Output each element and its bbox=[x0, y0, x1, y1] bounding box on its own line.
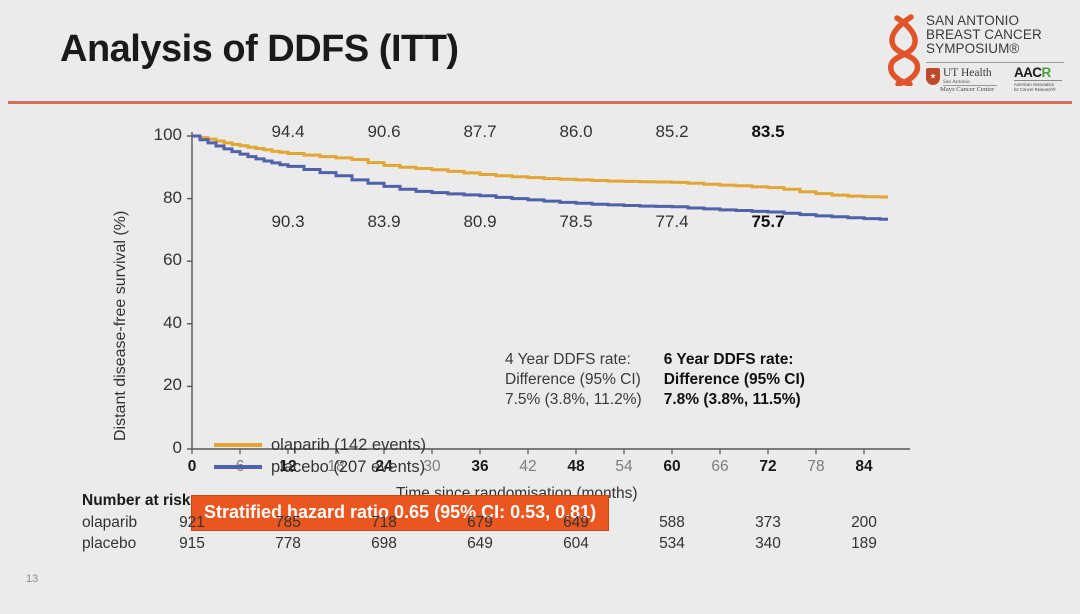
aacr-rule bbox=[1014, 80, 1062, 81]
risk-row-label: placebo bbox=[82, 535, 136, 553]
aacr-logo: AACR American Association for Cancer Res… bbox=[1014, 66, 1062, 92]
number-at-risk-table: Number at risk olaparib92178571867964958… bbox=[0, 492, 1080, 562]
ddfs-rate-annotations: 4 Year DDFS rate:Difference (95% CI)7.5%… bbox=[505, 350, 805, 410]
x-axis-tick-label: 42 bbox=[508, 458, 548, 476]
legend-item: placebo (207 events) bbox=[214, 456, 426, 478]
risk-cell: 915 bbox=[165, 535, 219, 553]
annotation-line: 7.8% (3.8%, 11.5%) bbox=[664, 390, 805, 410]
risk-table-title: Number at risk bbox=[82, 492, 191, 510]
risk-cell: 200 bbox=[837, 514, 891, 532]
x-axis-tick-label: 78 bbox=[796, 458, 836, 476]
annotation-four-year: 4 Year DDFS rate:Difference (95% CI)7.5%… bbox=[505, 350, 642, 410]
series-value-label: 87.7 bbox=[450, 122, 510, 142]
annotation-line: Difference (95% CI) bbox=[664, 370, 805, 390]
legend-color-swatch bbox=[214, 465, 262, 469]
x-axis-tick-label: 48 bbox=[556, 458, 596, 476]
slide-number: 13 bbox=[26, 573, 38, 585]
y-axis-tick-label: 100 bbox=[136, 125, 182, 145]
y-axis-tick-label: 80 bbox=[136, 188, 182, 208]
x-axis-tick-label: 36 bbox=[460, 458, 500, 476]
series-value-label: 85.2 bbox=[642, 122, 702, 142]
ut-health-label: UT Health bbox=[943, 67, 992, 79]
chart-legend: olaparib (142 events)placebo (207 events… bbox=[214, 434, 426, 478]
risk-cell: 373 bbox=[741, 514, 795, 532]
x-axis-tick-label: 72 bbox=[748, 458, 788, 476]
series-value-label: 83.5 bbox=[738, 122, 798, 142]
series-value-label: 83.9 bbox=[354, 212, 414, 232]
series-value-label: 78.5 bbox=[546, 212, 606, 232]
series-value-label: 94.4 bbox=[258, 122, 318, 142]
logo-partners: UT Health San Antonio Mays Cancer Center… bbox=[926, 66, 1066, 96]
aacr-subtitle: American Association for Cancer Research… bbox=[1014, 82, 1062, 92]
y-axis-tick-label: 0 bbox=[136, 438, 182, 458]
annotation-line: Difference (95% CI) bbox=[505, 370, 642, 390]
legend-label: olaparib (142 events) bbox=[271, 436, 426, 455]
risk-cell: 921 bbox=[165, 514, 219, 532]
x-axis-tick-label: 84 bbox=[844, 458, 884, 476]
series-value-label: 75.7 bbox=[738, 212, 798, 232]
sabcs-logo: SAN ANTONIO BREAST CANCER SYMPOSIUM® UT … bbox=[884, 12, 1064, 96]
y-axis-tick-label: 60 bbox=[136, 250, 182, 270]
ut-health-shield-icon bbox=[926, 68, 940, 85]
legend-color-swatch bbox=[214, 443, 262, 447]
x-axis-tick-label: 54 bbox=[604, 458, 644, 476]
sabcs-logo-text: SAN ANTONIO BREAST CANCER SYMPOSIUM® bbox=[926, 14, 1064, 56]
y-axis-tick-label: 20 bbox=[136, 375, 182, 395]
series-value-label: 90.6 bbox=[354, 122, 414, 142]
risk-row-label: olaparib bbox=[82, 514, 137, 532]
logo-line-3: SYMPOSIUM® bbox=[926, 42, 1064, 56]
annotation-line: 6 Year DDFS rate: bbox=[664, 350, 805, 370]
annotation-line: 4 Year DDFS rate: bbox=[505, 350, 642, 370]
x-axis-tick-label: 60 bbox=[652, 458, 692, 476]
aacr-r-letter: R bbox=[1041, 65, 1050, 80]
x-axis-tick-label: 0 bbox=[172, 458, 212, 476]
legend-item: olaparib (142 events) bbox=[214, 434, 426, 456]
series-value-label: 77.4 bbox=[642, 212, 702, 232]
risk-cell: 534 bbox=[645, 535, 699, 553]
y-axis-title: Distant disease-free survival (%) bbox=[112, 211, 130, 441]
series-value-label: 90.3 bbox=[258, 212, 318, 232]
risk-cell: 679 bbox=[453, 514, 507, 532]
risk-cell: 778 bbox=[261, 535, 315, 553]
aacr-subtitle-line-2: for Cancer Research® bbox=[1014, 87, 1062, 92]
logo-line-2: BREAST CANCER bbox=[926, 28, 1064, 42]
aacr-wordmark: AACR bbox=[1014, 66, 1062, 79]
series-value-label: 86.0 bbox=[546, 122, 606, 142]
risk-cell: 785 bbox=[261, 514, 315, 532]
risk-cell: 588 bbox=[645, 514, 699, 532]
sabcs-ribbon-icon bbox=[884, 14, 924, 86]
ddfs-kaplan-meier-chart: Distant disease-free survival (%) 020406… bbox=[0, 104, 1080, 504]
risk-cell: 698 bbox=[357, 535, 411, 553]
series-value-label: 80.9 bbox=[450, 212, 510, 232]
risk-cell: 649 bbox=[453, 535, 507, 553]
risk-cell: 649 bbox=[549, 514, 603, 532]
x-axis-tick-label: 66 bbox=[700, 458, 740, 476]
slide: Analysis of DDFS (ITT) SAN ANTONIO BREAS… bbox=[0, 0, 1080, 614]
annotation-line: 7.5% (3.8%, 11.2%) bbox=[505, 390, 642, 410]
logo-divider bbox=[926, 62, 1064, 63]
annotation-six-year: 6 Year DDFS rate:Difference (95% CI)7.8%… bbox=[664, 350, 805, 410]
risk-cell: 718 bbox=[357, 514, 411, 532]
risk-cell: 340 bbox=[741, 535, 795, 553]
risk-cell: 604 bbox=[549, 535, 603, 553]
mays-cancer-center-label: Mays Cancer Center bbox=[940, 86, 994, 93]
legend-label: placebo (207 events) bbox=[271, 458, 425, 477]
y-axis-tick-label: 40 bbox=[136, 313, 182, 333]
page-title: Analysis of DDFS (ITT) bbox=[60, 28, 459, 71]
logo-line-1: SAN ANTONIO bbox=[926, 14, 1064, 28]
risk-cell: 189 bbox=[837, 535, 891, 553]
aacr-letters: AAC bbox=[1014, 65, 1041, 80]
